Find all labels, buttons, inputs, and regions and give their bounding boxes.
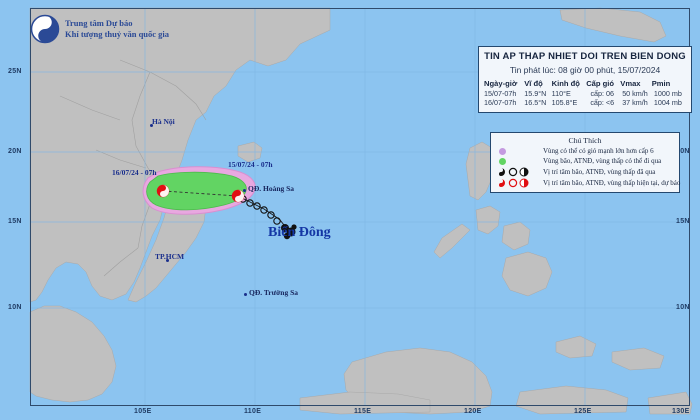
label-hoang-sa: QĐ. Hoàng Sa — [248, 184, 294, 193]
legend-item-current-positions: Vị trí tâm bão, ATNĐ, vùng thấp hiện tại… — [496, 178, 674, 188]
lat-tick-15n-left: 15N — [8, 218, 22, 225]
forecast-table: Ngày-giờ Vĩ độ Kinh độ Cấp gió Vmax Pmin… — [484, 79, 686, 107]
table-header-row: Ngày-giờ Vĩ độ Kinh độ Cấp gió Vmax Pmin — [484, 79, 686, 89]
cell-latitude: 16.5°N — [524, 98, 551, 107]
bulletin-title: TIN AP THAP NHIET DOI TREN BIEN DONG — [484, 51, 686, 63]
legend-label-cone-area: Vùng bão, ATNĐ, vùng thấp có thể đi qua — [543, 157, 661, 166]
lat-tick-10n-right: 10N — [676, 304, 690, 311]
weather-map: Trung tâm Dự báo Khí tượng thuỷ văn quốc… — [0, 0, 700, 420]
label-tphcm: TP.HCM — [155, 252, 184, 261]
legend-item-past-positions: Vị trí tâm bão, ATNĐ, vùng thấp đã qua — [496, 167, 674, 177]
label-hanoi: Hà Nội — [152, 117, 175, 126]
lat-tick-10n-left: 10N — [8, 304, 22, 311]
table-row: 16/07-07h 16.5°N 105.8°E cấp: <6 37 km/h… — [484, 98, 686, 107]
cell-datetime: 16/07-07h — [484, 98, 524, 107]
org-line-2: Khí tượng thuỷ văn quốc gia — [65, 29, 169, 40]
lon-tick-125e: 125E — [574, 408, 592, 415]
legend-title: Chú Thích — [496, 136, 674, 146]
current-position-marker — [232, 190, 244, 202]
col-longitude: Kinh độ — [552, 79, 587, 89]
yin-yang-logo-icon — [30, 14, 60, 44]
forecast-position-marker — [157, 185, 169, 197]
label-truong-sa: QĐ. Trường Sa — [249, 288, 298, 297]
lat-tick-25n-left: 25N — [8, 68, 22, 75]
green-area-swatch — [496, 158, 538, 165]
truong-sa-dot — [244, 293, 247, 296]
legend-panel: Chú Thích Vùng có thể có gió mạnh lớn hơ… — [490, 132, 680, 193]
cell-latitude: 15.9°N — [524, 89, 551, 98]
legend-label-past-positions: Vị trí tâm bão, ATNĐ, vùng thấp đã qua — [543, 168, 655, 177]
col-windlevel: Cấp gió — [586, 79, 620, 89]
lon-tick-130e: 130E — [672, 408, 690, 415]
cell-vmax: 37 km/h — [620, 98, 651, 107]
bulletin-subtitle: Tin phát lúc: 08 giờ 00 phút, 15/07/2024 — [484, 64, 686, 76]
cell-windlevel: cấp: <6 — [586, 98, 620, 107]
col-datetime: Ngày-giờ — [484, 79, 524, 89]
lon-tick-110e: 110E — [244, 408, 261, 415]
cell-vmax: 50 km/h — [620, 89, 651, 98]
cell-datetime: 15/07-07h — [484, 89, 524, 98]
legend-item-cone-area: Vùng bão, ATNĐ, vùng thấp có thể đi qua — [496, 157, 674, 166]
cell-windlevel: cấp: 06 — [586, 89, 620, 98]
col-pmin: Pmin — [652, 79, 686, 89]
legend-item-gale-area: Vùng có thể có gió mạnh lớn hơn cấp 6 — [496, 147, 674, 156]
track-date-forecast: 16/07/24 - 07h — [112, 168, 157, 177]
lat-tick-15n-right: 15N — [676, 218, 690, 225]
organization-name: Trung tâm Dự báo Khí tượng thuỷ văn quốc… — [65, 18, 169, 40]
legend-label-current-positions: Vị trí tâm bão, ATNĐ, vùng thấp hiện tại… — [543, 179, 680, 188]
col-vmax: Vmax — [620, 79, 651, 89]
table-row: 15/07-07h 15.9°N 110°E cấp: 06 50 km/h 1… — [484, 89, 686, 98]
track-date-current: 15/07/24 - 07h — [228, 160, 273, 169]
purple-area-swatch — [496, 148, 538, 155]
lon-tick-120e: 120E — [464, 408, 482, 415]
bulletin-panel: TIN AP THAP NHIET DOI TREN BIEN DONG Tin… — [478, 46, 692, 113]
lat-tick-20n-left: 20N — [8, 148, 22, 155]
org-line-1: Trung tâm Dự báo — [65, 18, 169, 29]
label-bien-dong: Biển Đông — [268, 225, 331, 241]
lon-tick-115e: 115E — [354, 408, 371, 415]
black-track-markers — [496, 167, 538, 177]
legend-label-gale-area: Vùng có thể có gió mạnh lớn hơn cấp 6 — [543, 147, 654, 156]
cell-longitude: 110°E — [552, 89, 587, 98]
cell-pmin: 1004 mb — [652, 98, 686, 107]
lon-tick-105e: 105E — [134, 408, 152, 415]
cell-longitude: 105.8°E — [552, 98, 587, 107]
cell-pmin: 1000 mb — [652, 89, 686, 98]
organization-header: Trung tâm Dự báo Khí tượng thuỷ văn quốc… — [30, 14, 169, 44]
col-latitude: Vĩ độ — [524, 79, 551, 89]
red-track-markers — [496, 178, 538, 188]
hoang-sa-dot — [243, 189, 246, 192]
